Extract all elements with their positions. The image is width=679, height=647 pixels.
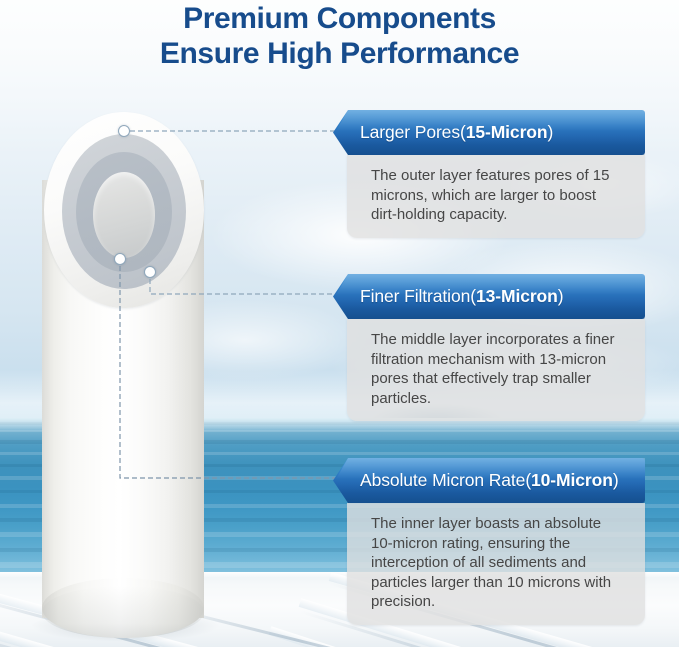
cartridge-inner-core bbox=[93, 172, 155, 258]
callout-title-paren-close: ) bbox=[613, 470, 619, 491]
callout-title-paren-close: ) bbox=[547, 122, 553, 143]
callout-title-text: Absolute Micron Rate bbox=[360, 470, 525, 491]
callout-anchor-dot-inner-layer[interactable] bbox=[114, 253, 126, 265]
callout-body-absolute-micron-rate: The inner layer boasts an absolute 10-mi… bbox=[347, 503, 645, 625]
title-line-1: Premium Components bbox=[0, 2, 679, 37]
callout-body-larger-pores: The outer layer features pores of 15 mic… bbox=[347, 155, 645, 238]
callout-body-finer-filtration: The middle layer incorporates a finer fi… bbox=[347, 319, 645, 421]
callout-anchor-dot-middle-layer[interactable] bbox=[144, 266, 156, 278]
callout-title-text: Larger Pores bbox=[360, 122, 460, 143]
page-title: Premium Components Ensure High Performan… bbox=[0, 2, 679, 72]
callout-title-finer-filtration: Finer Filtration (13-Micron) bbox=[360, 274, 563, 319]
cartridge-bottom-shading bbox=[42, 586, 204, 638]
callout-title-micron: 15-Micron bbox=[466, 122, 548, 143]
callout-title-absolute-micron-rate: Absolute Micron Rate (10-Micron) bbox=[360, 458, 619, 503]
callout-title-micron: 13-Micron bbox=[476, 286, 558, 307]
infographic-canvas: Premium Components Ensure High Performan… bbox=[0, 0, 679, 647]
callout-finer-filtration[interactable]: Finer Filtration (13-Micron) The middle … bbox=[333, 274, 645, 421]
callout-larger-pores[interactable]: Larger Pores (15-Micron) The outer layer… bbox=[333, 110, 645, 238]
callout-anchor-dot-outer-layer[interactable] bbox=[118, 125, 130, 137]
filter-cartridge-image bbox=[38, 112, 210, 640]
callout-title-larger-pores: Larger Pores (15-Micron) bbox=[360, 110, 553, 155]
callout-absolute-micron-rate[interactable]: Absolute Micron Rate (10-Micron) The inn… bbox=[333, 458, 645, 625]
callout-header-larger-pores[interactable]: Larger Pores (15-Micron) bbox=[333, 110, 645, 155]
callout-header-finer-filtration[interactable]: Finer Filtration (13-Micron) bbox=[333, 274, 645, 319]
callout-title-micron: 10-Micron bbox=[531, 470, 613, 491]
callout-title-paren-close: ) bbox=[558, 286, 564, 307]
callout-title-text: Finer Filtration bbox=[360, 286, 470, 307]
title-line-2: Ensure High Performance bbox=[0, 37, 679, 72]
callout-header-absolute-micron-rate[interactable]: Absolute Micron Rate (10-Micron) bbox=[333, 458, 645, 503]
